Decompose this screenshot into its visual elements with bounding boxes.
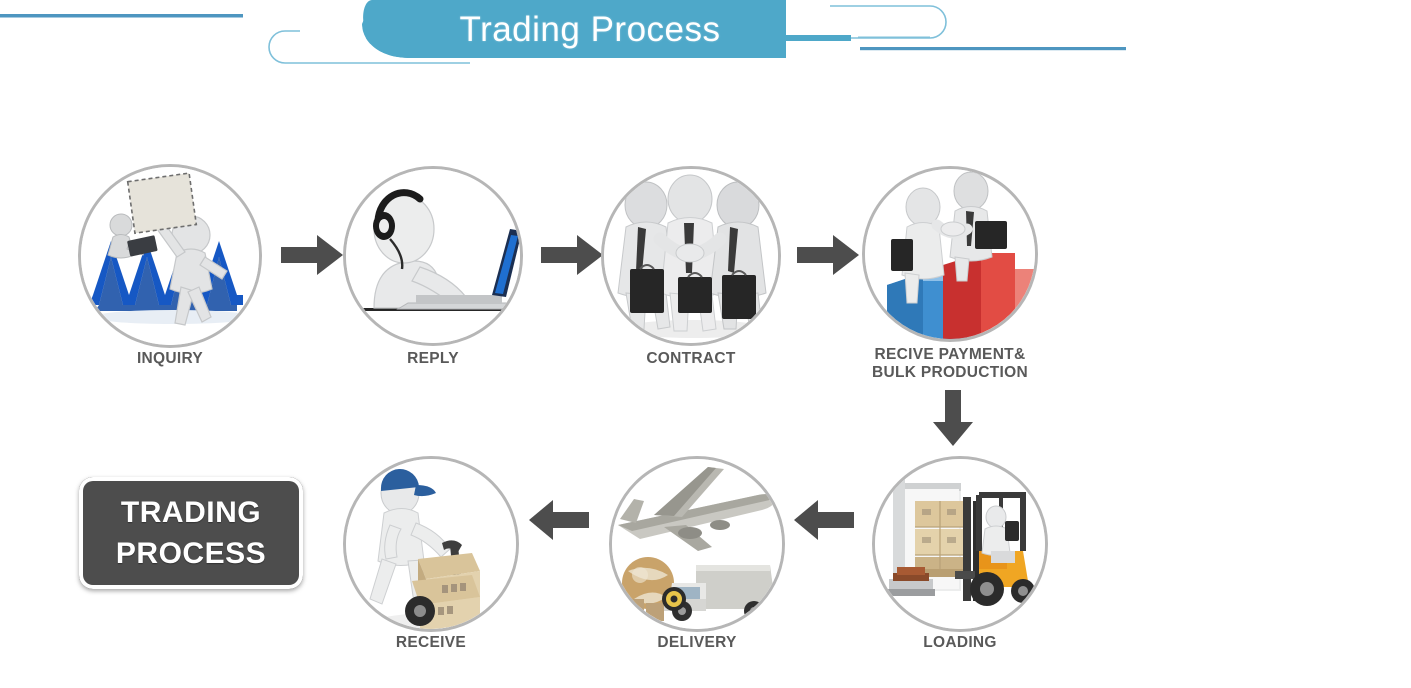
flow-node-loading-label: LOADING <box>850 634 1070 652</box>
arrow-inquiry-to-reply <box>281 231 345 284</box>
arrow-loading-to-delivery <box>792 496 856 549</box>
forklift-pallet-container-icon <box>875 459 1048 632</box>
handshake-on-bar-chart-icon <box>865 169 1038 342</box>
page-title: Trading Process <box>420 8 760 52</box>
flow-node-receive-label: RECEIVE <box>321 634 541 652</box>
badge-line-1: TRADING <box>121 492 261 533</box>
delivery-icon-circle <box>609 456 785 632</box>
arrow-reply-to-contract <box>541 231 605 284</box>
reply-icon-circle <box>343 166 523 346</box>
handshake-businessmen-briefcase-icon <box>604 169 781 346</box>
flow-node-contract-label: CONTRACT <box>581 350 801 368</box>
flow-node-inquiry-label: INQUIRY <box>60 350 280 368</box>
flow-node-payment-label: RECIVE PAYMENT& BULK PRODUCTION <box>804 346 1096 382</box>
headset-agent-laptop-icon <box>346 169 523 346</box>
flow-node-reply-label: REPLY <box>323 350 543 368</box>
person-holding-sign-chart-icon <box>81 167 262 348</box>
header-banner: Trading Process <box>0 0 1411 70</box>
loading-icon-circle <box>872 456 1048 632</box>
arrow-contract-to-payment <box>797 231 861 284</box>
inquiry-icon-circle <box>78 164 262 348</box>
payment-icon-circle <box>862 166 1038 342</box>
flow-node-delivery-label: DELIVERY <box>587 634 807 652</box>
receive-icon-circle <box>343 456 519 632</box>
arrow-payment-to-loading <box>931 390 975 453</box>
trading-process-badge: TRADING PROCESS <box>79 477 303 589</box>
trading-process-infographic: Trading Process <box>0 0 1411 688</box>
arrow-delivery-to-receive <box>527 496 591 549</box>
courier-hand-truck-boxes-icon <box>346 459 519 632</box>
badge-line-2: PROCESS <box>116 533 266 574</box>
contract-icon-circle <box>601 166 781 346</box>
airplane-truck-globe-icon <box>612 459 785 632</box>
